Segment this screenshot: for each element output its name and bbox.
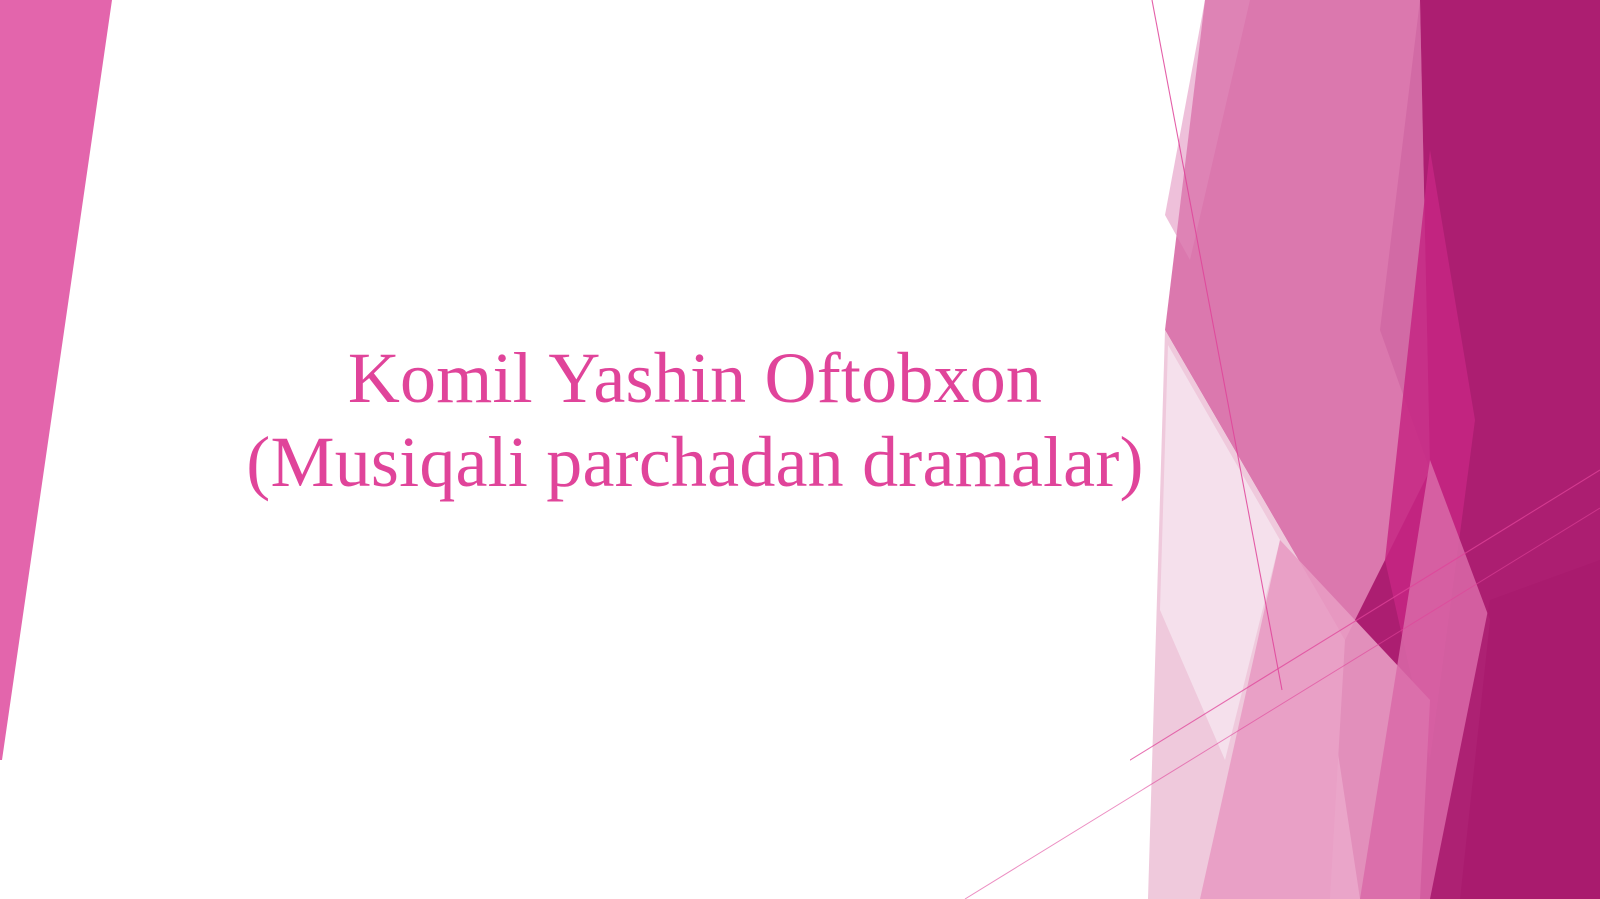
hairline-long-diagonal <box>1130 470 1600 899</box>
facet-bright-magenta-band <box>1385 150 1475 760</box>
slide-title: Komil Yashin Oftobxon (Musiqali parchada… <box>150 336 1240 504</box>
facet-soft-pink-lower <box>1200 540 1430 899</box>
title-line-2: (Musiqali parchadan dramalar) <box>150 420 1240 504</box>
facet-deep-magenta-bottom <box>1430 560 1600 899</box>
facet-mid-pink-top <box>1165 0 1430 640</box>
facet-dark-magenta-right <box>1330 0 1600 899</box>
facet-pink-shade <box>1380 0 1430 470</box>
facet-pink-bottom-right <box>1360 460 1490 899</box>
left-pink-wedge <box>0 0 112 760</box>
title-line-1: Komil Yashin Oftobxon <box>150 336 1240 420</box>
hairline-diagonal-extension <box>965 508 1600 899</box>
slide-canvas: Komil Yashin Oftobxon (Musiqali parchada… <box>0 0 1600 899</box>
facet-pink-sliver-top <box>1165 0 1250 260</box>
